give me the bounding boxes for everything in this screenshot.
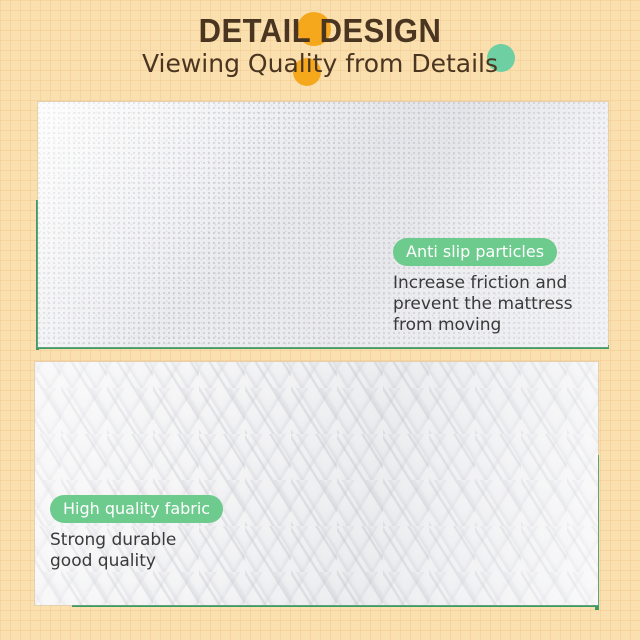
callout-anti-slip: Anti slip particles Increase friction an… [393,238,603,336]
page-subtitle: Viewing Quality from Details [0,49,640,79]
badge-anti-slip-particles: Anti slip particles [393,238,557,266]
callout-high-quality-fabric: High quality fabric Strong durable good … [50,495,280,572]
badge-high-quality-fabric: High quality fabric [50,495,223,523]
description-anti-slip: Increase friction and prevent the mattre… [393,273,603,336]
description-high-quality-fabric: Strong durable good quality [50,530,280,572]
page-header: DETAIL DESIGN Viewing Quality from Detai… [0,0,640,96]
detail-design-page: DETAIL DESIGN Viewing Quality from Detai… [0,0,640,640]
page-title: DETAIL DESIGN [19,12,621,50]
